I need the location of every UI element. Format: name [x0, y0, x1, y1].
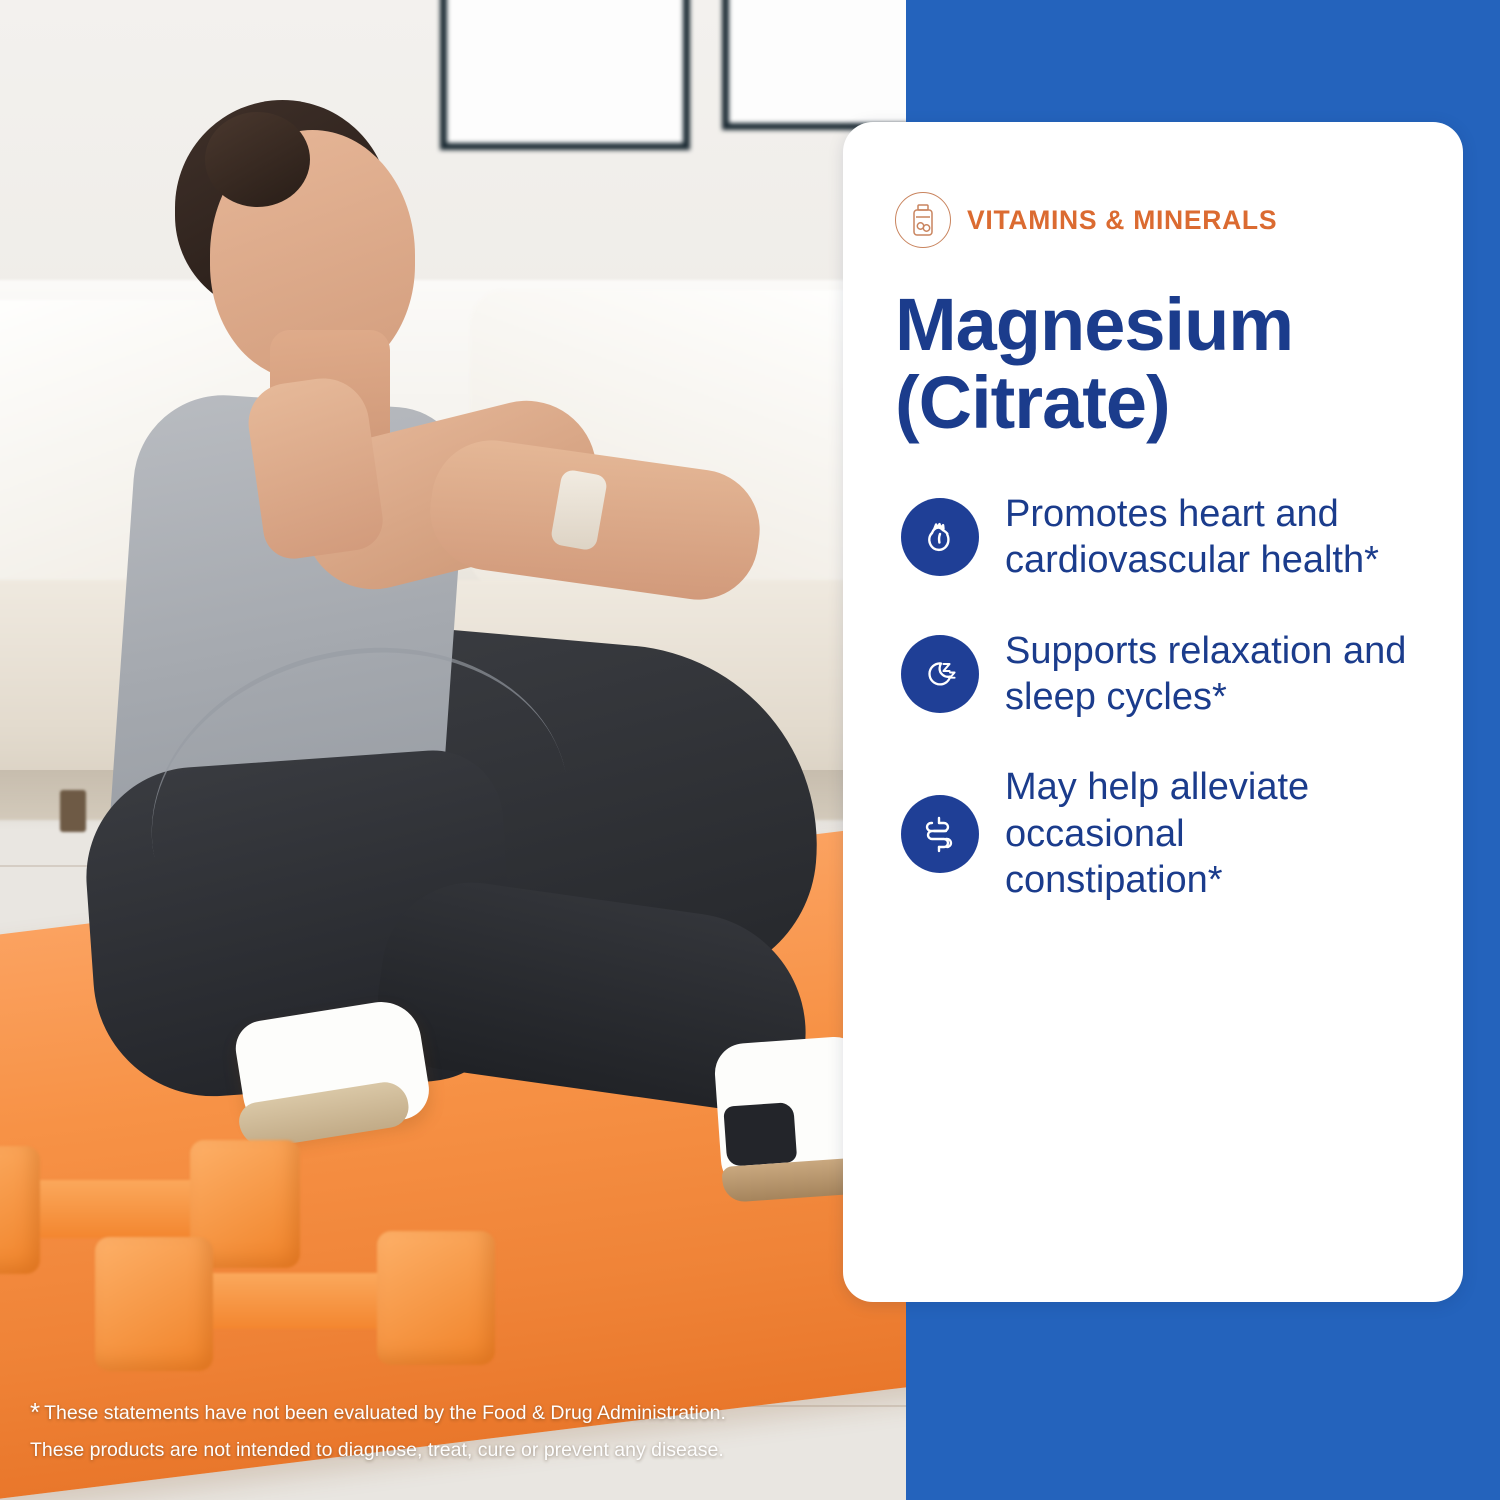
- fda-disclaimer: *These statements have not been evaluate…: [30, 1390, 890, 1468]
- benefit-item: May help alleviate occasional constipati…: [901, 764, 1411, 903]
- category-label: VITAMINS & MINERALS: [967, 205, 1277, 236]
- moon-sleep-icon: [901, 635, 979, 713]
- benefit-text: Promotes heart and cardiovascular health…: [1005, 491, 1411, 584]
- intestine-icon: [901, 795, 979, 873]
- benefits-list: Promotes heart and cardiovascular health…: [895, 491, 1411, 904]
- product-info-card: VITAMINS & MINERALS Magnesium (Citrate) …: [843, 122, 1463, 1302]
- disclaimer-line-1: *These statements have not been evaluate…: [30, 1390, 890, 1435]
- benefit-item: Promotes heart and cardiovascular health…: [901, 491, 1411, 584]
- window-right: [722, 0, 906, 130]
- asterisk-mark: *: [30, 1397, 40, 1427]
- window-left: [440, 0, 690, 150]
- hero-photo: *These statements have not been evaluate…: [0, 0, 906, 1500]
- title-line-1: Magnesium: [895, 286, 1411, 364]
- heart-icon: [901, 498, 979, 576]
- benefit-item: Supports relaxation and sleep cycles*: [901, 628, 1411, 721]
- disclaimer-text-1: These statements have not been evaluated…: [44, 1402, 726, 1424]
- title-line-2: (Citrate): [895, 364, 1411, 442]
- benefit-text: May help alleviate occasional constipati…: [1005, 764, 1411, 903]
- disclaimer-line-2: These products are not intended to diagn…: [30, 1434, 890, 1468]
- category-eyebrow: VITAMINS & MINERALS: [895, 192, 1411, 248]
- page-title: Magnesium (Citrate): [895, 286, 1411, 443]
- benefit-text: Supports relaxation and sleep cycles*: [1005, 628, 1411, 721]
- supplement-bottle-icon: [895, 192, 951, 248]
- woman-hair-bun: [205, 112, 310, 207]
